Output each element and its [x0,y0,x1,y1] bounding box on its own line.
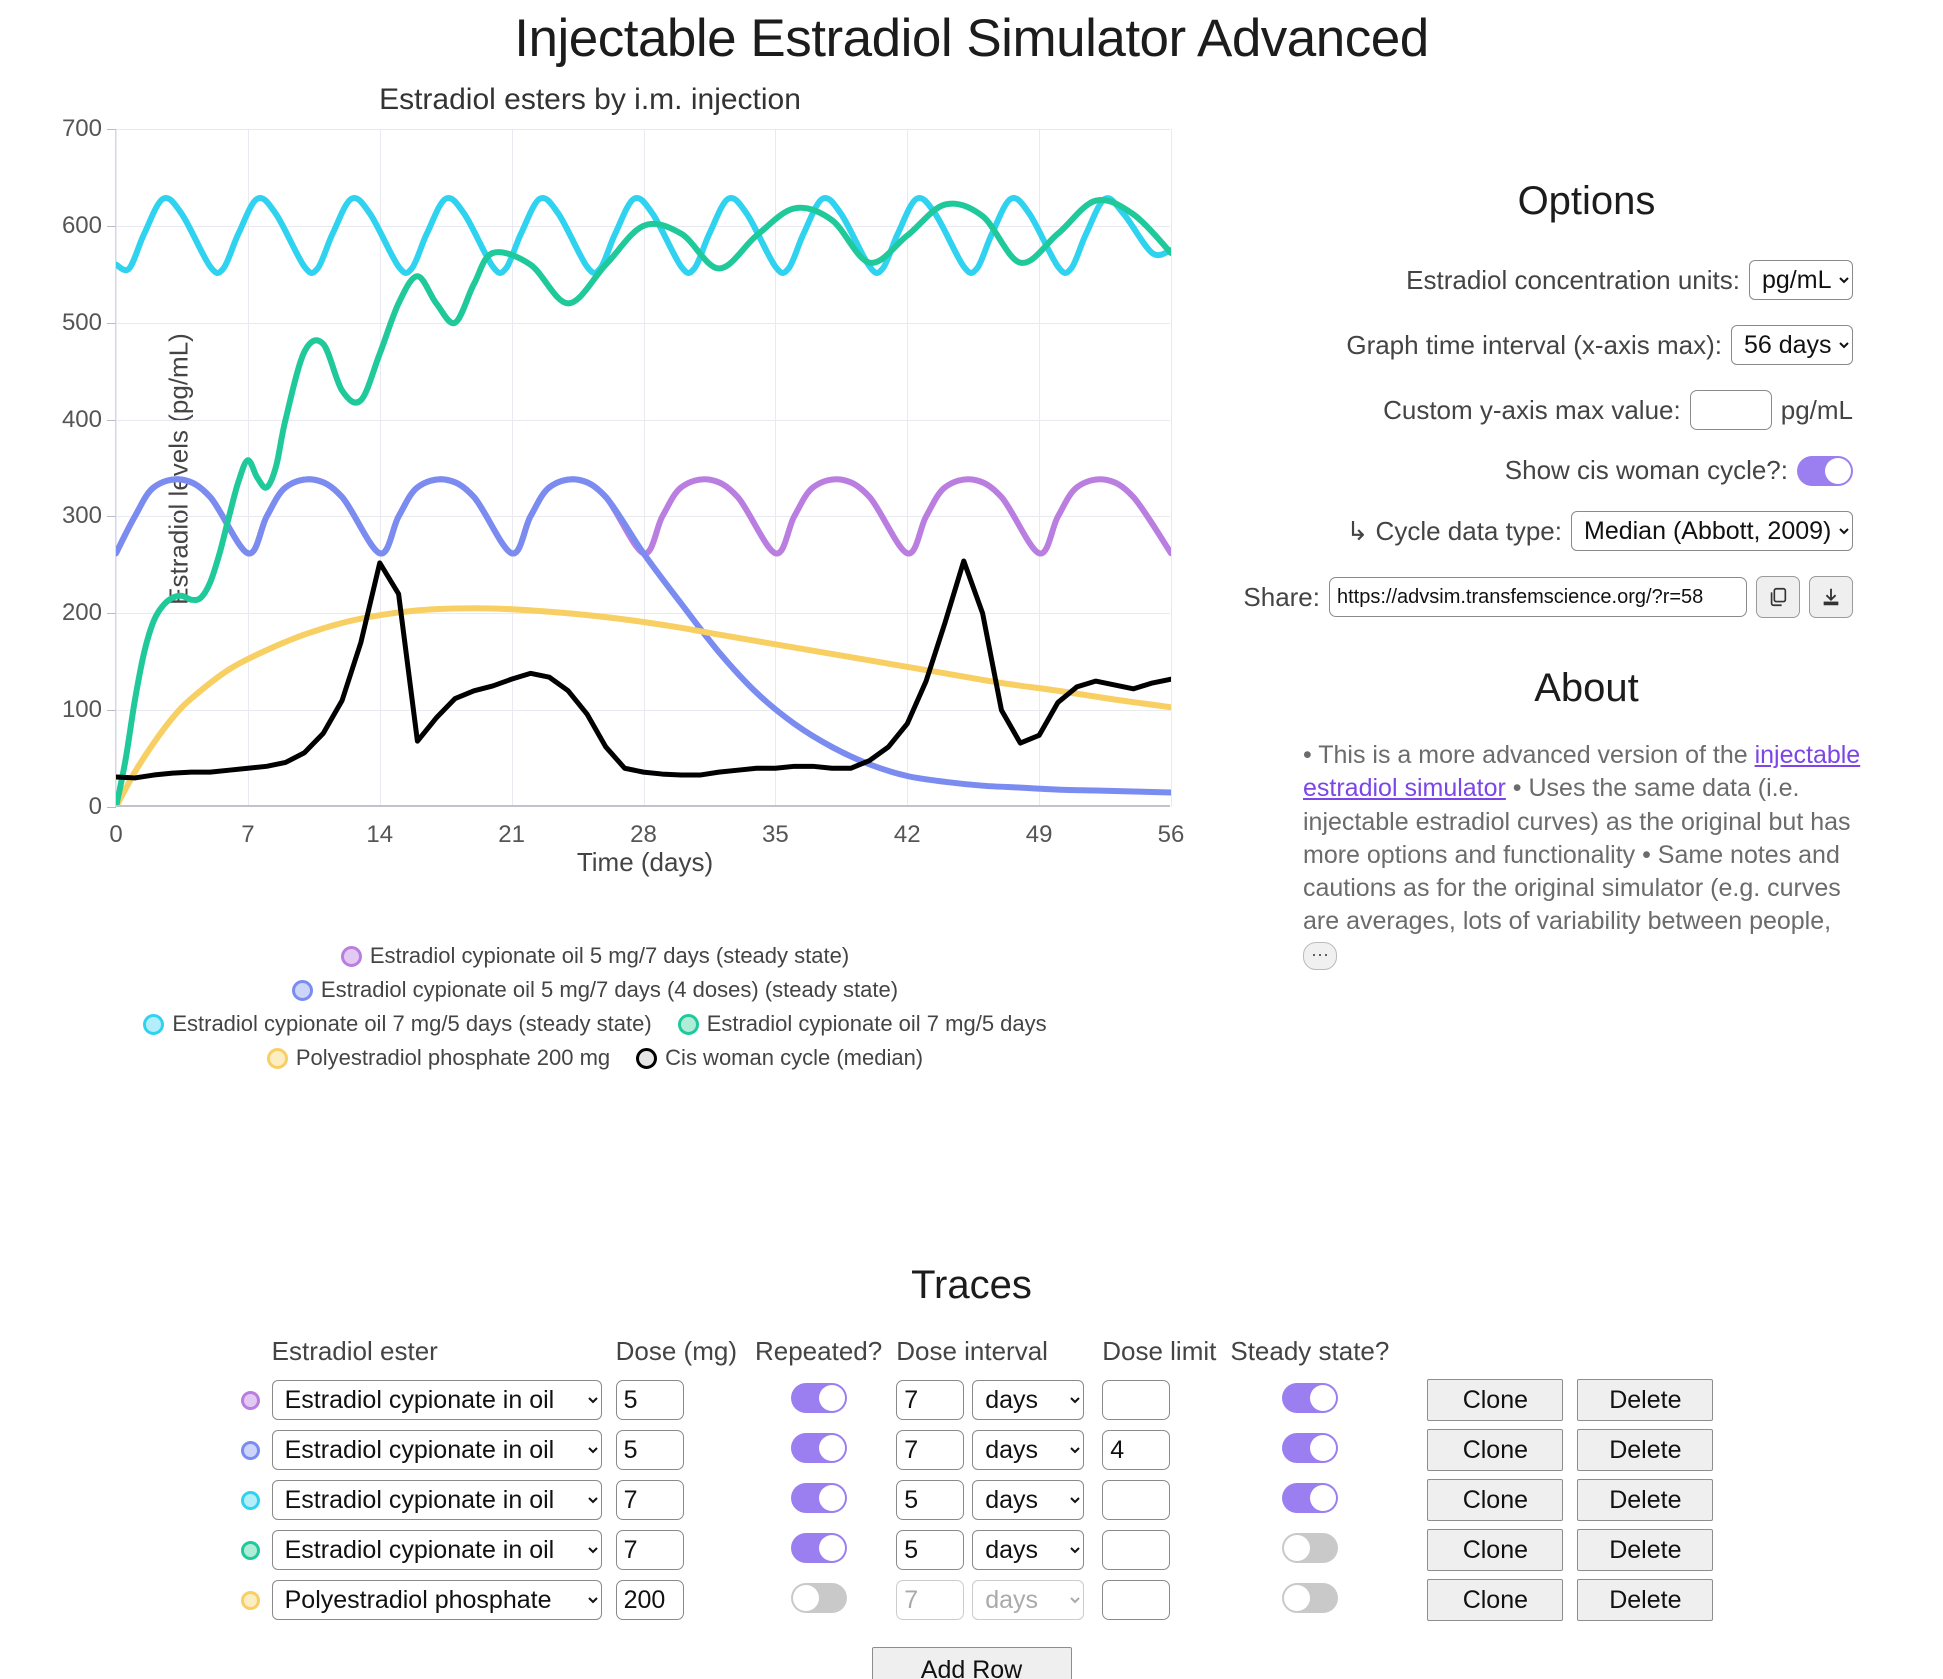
legend-item[interactable]: Estradiol cypionate oil 7 mg/5 days [678,1011,1047,1037]
traces-table: Estradiol ester Dose (mg) Repeated? Dose… [230,1336,1714,1625]
x-tick-label: 21 [498,807,525,849]
steady-state-toggle[interactable] [1282,1383,1338,1413]
chart-curves [116,129,1171,807]
chart-series-line [116,479,1171,792]
about-heading: About [1230,666,1943,711]
custom-ymax-unit: pg/mL [1781,395,1853,426]
interval-unit-select[interactable]: days [972,1580,1084,1620]
plot-area: 0100200300400500600700 0714212835424956 [115,129,1170,807]
legend-marker-icon [678,1014,699,1035]
clone-button[interactable]: Clone [1427,1379,1563,1421]
dose-cell [602,1475,737,1525]
dose-limit-input[interactable] [1102,1380,1170,1420]
traces-heading: Traces [0,1263,1943,1308]
clone-button[interactable]: Clone [1427,1479,1563,1521]
chart-panel: Estradiol esters by i.m. injection Estra… [0,73,1215,1143]
steady-state-cell [1216,1375,1389,1425]
legend-row: Estradiol cypionate oil 7 mg/5 days (ste… [0,1011,1190,1037]
delete-button[interactable]: Delete [1577,1429,1713,1471]
legend-marker-icon [636,1048,657,1069]
ester-cell: Estradiol cypionate in oil [272,1525,602,1575]
y-tick-label: 700 [62,115,116,143]
limit-cell [1084,1425,1216,1475]
share-input[interactable] [1329,577,1747,617]
page-title: Injectable Estradiol Simulator Advanced [0,8,1943,69]
legend-label: Estradiol cypionate oil 5 mg/7 days (ste… [370,943,849,969]
dose-cell [602,1525,737,1575]
trace-color-cell [230,1525,272,1575]
add-row-button[interactable]: Add Row [872,1647,1072,1679]
x-tick-label: 42 [894,807,921,849]
dose-input[interactable] [616,1580,684,1620]
dose-limit-input[interactable] [1102,1580,1170,1620]
show-cycle-toggle[interactable] [1797,456,1853,486]
legend-item[interactable]: Estradiol cypionate oil 5 mg/7 days (ste… [341,943,849,969]
chart-series-line [116,561,1171,778]
limit-cell [1084,1475,1216,1525]
trace-color-icon[interactable] [241,1541,260,1560]
interval-unit-select[interactable]: days [972,1430,1084,1470]
repeated-toggle[interactable] [791,1433,847,1463]
interval-unit-select[interactable]: days [972,1530,1084,1570]
repeated-toggle[interactable] [791,1383,847,1413]
interval-cell: days [882,1575,1084,1625]
x-tick-label: 35 [762,807,789,849]
units-label: Estradiol concentration units: [1406,265,1740,296]
custom-ymax-input[interactable] [1690,390,1772,430]
col-repeated: Repeated? [737,1336,882,1375]
dose-limit-input[interactable] [1102,1480,1170,1520]
col-actions2 [1563,1336,1713,1375]
dose-limit-input[interactable] [1102,1530,1170,1570]
x-tick-label: 7 [241,807,254,849]
x-tick-label: 0 [109,807,122,849]
interval-cell: days [882,1475,1084,1525]
add-row-wrap: Add Row [0,1647,1943,1679]
dose-limit-input[interactable] [1102,1430,1170,1470]
delete-button[interactable]: Delete [1577,1479,1713,1521]
option-row-time-interval: Graph time interval (x-axis max): 56 day… [1230,325,1943,365]
trace-row: Estradiol cypionate in oildaysCloneDelet… [230,1525,1714,1575]
col-color [230,1336,272,1375]
repeated-cell [737,1575,882,1625]
legend-marker-icon [143,1014,164,1035]
trace-color-icon[interactable] [241,1441,260,1460]
legend-row: Estradiol cypionate oil 5 mg/7 days (4 d… [0,977,1190,1003]
delete-button[interactable]: Delete [1577,1579,1713,1621]
x-tick-label: 14 [366,807,393,849]
delete-cell: Delete [1563,1525,1713,1575]
legend-label: Estradiol cypionate oil 5 mg/7 days (4 d… [321,977,898,1003]
trace-row: Estradiol cypionate in oildaysCloneDelet… [230,1475,1714,1525]
trace-color-cell [230,1375,272,1425]
col-steady: Steady state? [1216,1336,1389,1375]
traces-header-row: Estradiol ester Dose (mg) Repeated? Dose… [230,1336,1714,1375]
steady-state-toggle[interactable] [1282,1433,1338,1463]
ester-select[interactable]: Estradiol cypionate in oil [272,1480,602,1520]
col-interval: Dose interval [882,1336,1084,1375]
options-heading: Options [1230,179,1943,224]
repeated-cell [737,1525,882,1575]
y-tick-label: 400 [62,406,116,434]
legend-item[interactable]: Estradiol cypionate oil 5 mg/7 days (4 d… [292,977,898,1003]
clone-button[interactable]: Clone [1427,1579,1563,1621]
y-tick-label: 600 [62,212,116,240]
legend-item[interactable]: Estradiol cypionate oil 7 mg/5 days (ste… [143,1011,651,1037]
steady-state-cell [1216,1425,1389,1475]
dose-input[interactable] [616,1380,684,1420]
legend-item[interactable]: Cis woman cycle (median) [636,1045,923,1071]
interval-input[interactable] [896,1580,964,1620]
y-tick-label: 500 [62,309,116,337]
gridline-vertical [1171,129,1172,807]
option-row-show-cycle: Show cis woman cycle?: [1230,455,1943,486]
dose-input[interactable] [616,1480,684,1520]
option-row-cycle-type: ↳ Cycle data type: Median (Abbott, 2009) [1230,511,1943,551]
ester-cell: Polyestradiol phosphate [272,1575,602,1625]
chart-legend: Estradiol cypionate oil 5 mg/7 days (ste… [0,943,1190,1079]
trace-row: Estradiol cypionate in oildaysCloneDelet… [230,1375,1714,1425]
delete-button[interactable]: Delete [1577,1529,1713,1571]
interval-input[interactable] [896,1530,964,1570]
cycle-type-select[interactable]: Median (Abbott, 2009) [1571,511,1853,551]
y-tick-label: 200 [62,599,116,627]
legend-marker-icon [292,980,313,1001]
options-panel: Options Estradiol concentration units: p… [1230,73,1943,972]
dose-input[interactable] [616,1530,684,1570]
steady-state-cell [1216,1525,1389,1575]
x-axis-label: Time (days) [115,847,1175,878]
trace-color-cell [230,1425,272,1475]
chart-series-line [116,479,1171,553]
repeated-toggle[interactable] [791,1533,847,1563]
dose-cell [602,1425,737,1475]
legend-marker-icon [341,946,362,967]
interval-unit-select[interactable]: days [972,1480,1084,1520]
custom-ymax-label: Custom y-axis max value: [1383,395,1681,426]
col-ester: Estradiol ester [272,1336,602,1375]
repeated-cell [737,1375,882,1425]
col-dose: Dose (mg) [602,1336,737,1375]
interval-input[interactable] [896,1380,964,1420]
option-row-share: Share: [1230,576,1943,618]
ester-cell: Estradiol cypionate in oil [272,1475,602,1525]
interval-cell: days [882,1525,1084,1575]
delete-cell: Delete [1563,1375,1713,1425]
legend-marker-icon [267,1048,288,1069]
clone-cell: Clone [1389,1525,1563,1575]
interval-unit-select[interactable]: days [972,1380,1084,1420]
interval-cell: days [882,1375,1084,1425]
about-text-part1: • This is a more advanced version of the [1303,741,1755,769]
share-label: Share: [1243,582,1320,613]
interval-input[interactable] [896,1430,964,1470]
steady-state-toggle[interactable] [1282,1583,1338,1613]
ester-cell: Estradiol cypionate in oil [272,1425,602,1475]
dose-cell [602,1375,737,1425]
show-cycle-label: Show cis woman cycle?: [1505,455,1788,486]
copy-icon[interactable] [1756,576,1800,618]
steady-state-toggle[interactable] [1282,1533,1338,1563]
x-tick-label: 49 [1026,807,1053,849]
legend-label: Polyestradiol phosphate 200 mg [296,1045,610,1071]
expand-about-button[interactable]: ⋯ [1303,942,1337,970]
ester-select[interactable]: Estradiol cypionate in oil [272,1380,602,1420]
delete-cell: Delete [1563,1425,1713,1475]
limit-cell [1084,1575,1216,1625]
clone-cell: Clone [1389,1575,1563,1625]
ester-select[interactable]: Estradiol cypionate in oil [272,1530,602,1570]
plot-wrap: Estradiol levels (pg/mL) 010020030040050… [115,129,1175,809]
legend-label: Cis woman cycle (median) [665,1045,923,1071]
x-axis-line [116,805,1170,807]
trace-color-cell [230,1475,272,1525]
clone-cell: Clone [1389,1375,1563,1425]
steady-state-toggle[interactable] [1282,1483,1338,1513]
limit-cell [1084,1525,1216,1575]
option-row-custom-ymax: Custom y-axis max value: pg/mL [1230,390,1943,430]
legend-label: Estradiol cypionate oil 7 mg/5 days (ste… [172,1011,651,1037]
time-interval-label: Graph time interval (x-axis max): [1346,330,1722,361]
clone-cell: Clone [1389,1425,1563,1475]
clone-button[interactable]: Clone [1427,1429,1563,1471]
trace-row: Polyestradiol phosphatedaysCloneDelete [230,1575,1714,1625]
traces-body: Estradiol cypionate in oildaysCloneDelet… [230,1375,1714,1625]
legend-row: Polyestradiol phosphate 200 mgCis woman … [0,1045,1190,1071]
repeated-cell [737,1475,882,1525]
traces-panel: Traces Estradiol ester Dose (mg) Repeate… [0,1263,1943,1679]
about-text: • This is a more advanced version of the… [1230,739,1943,972]
chart-series-line [116,608,1171,807]
steady-state-cell [1216,1575,1389,1625]
time-interval-select[interactable]: 56 days [1731,325,1853,365]
y-tick-label: 100 [62,696,116,724]
delete-cell: Delete [1563,1475,1713,1525]
ester-cell: Estradiol cypionate in oil [272,1375,602,1425]
option-row-units: Estradiol concentration units: pg/mL [1230,260,1943,300]
legend-item[interactable]: Polyestradiol phosphate 200 mg [267,1045,610,1071]
delete-cell: Delete [1563,1575,1713,1625]
clone-cell: Clone [1389,1475,1563,1525]
trace-color-icon[interactable] [241,1391,260,1410]
repeated-cell [737,1425,882,1475]
dose-cell [602,1575,737,1625]
chart-title: Estradiol esters by i.m. injection [0,83,1180,117]
repeated-toggle[interactable] [791,1583,847,1613]
col-limit: Dose limit [1084,1336,1216,1375]
cycle-type-label: ↳ Cycle data type: [1347,516,1562,547]
legend-row: Estradiol cypionate oil 5 mg/7 days (ste… [0,943,1190,969]
trace-color-icon[interactable] [241,1491,260,1510]
limit-cell [1084,1375,1216,1425]
interval-cell: days [882,1425,1084,1475]
dose-input[interactable] [616,1430,684,1470]
ester-select[interactable]: Polyestradiol phosphate [272,1580,602,1620]
trace-color-cell [230,1575,272,1625]
y-tick-label: 300 [62,502,116,530]
repeated-toggle[interactable] [791,1483,847,1513]
units-select[interactable]: pg/mL [1749,260,1853,300]
x-tick-label: 56 [1158,807,1185,849]
x-tick-label: 28 [630,807,657,849]
interval-input[interactable] [896,1480,964,1520]
legend-label: Estradiol cypionate oil 7 mg/5 days [707,1011,1047,1037]
clone-button[interactable]: Clone [1427,1529,1563,1571]
delete-button[interactable]: Delete [1577,1379,1713,1421]
steady-state-cell [1216,1475,1389,1525]
trace-row: Estradiol cypionate in oildaysCloneDelet… [230,1425,1714,1475]
ester-select[interactable]: Estradiol cypionate in oil [272,1430,602,1470]
col-actions [1389,1336,1563,1375]
trace-color-icon[interactable] [241,1591,260,1610]
download-icon[interactable] [1809,576,1853,618]
